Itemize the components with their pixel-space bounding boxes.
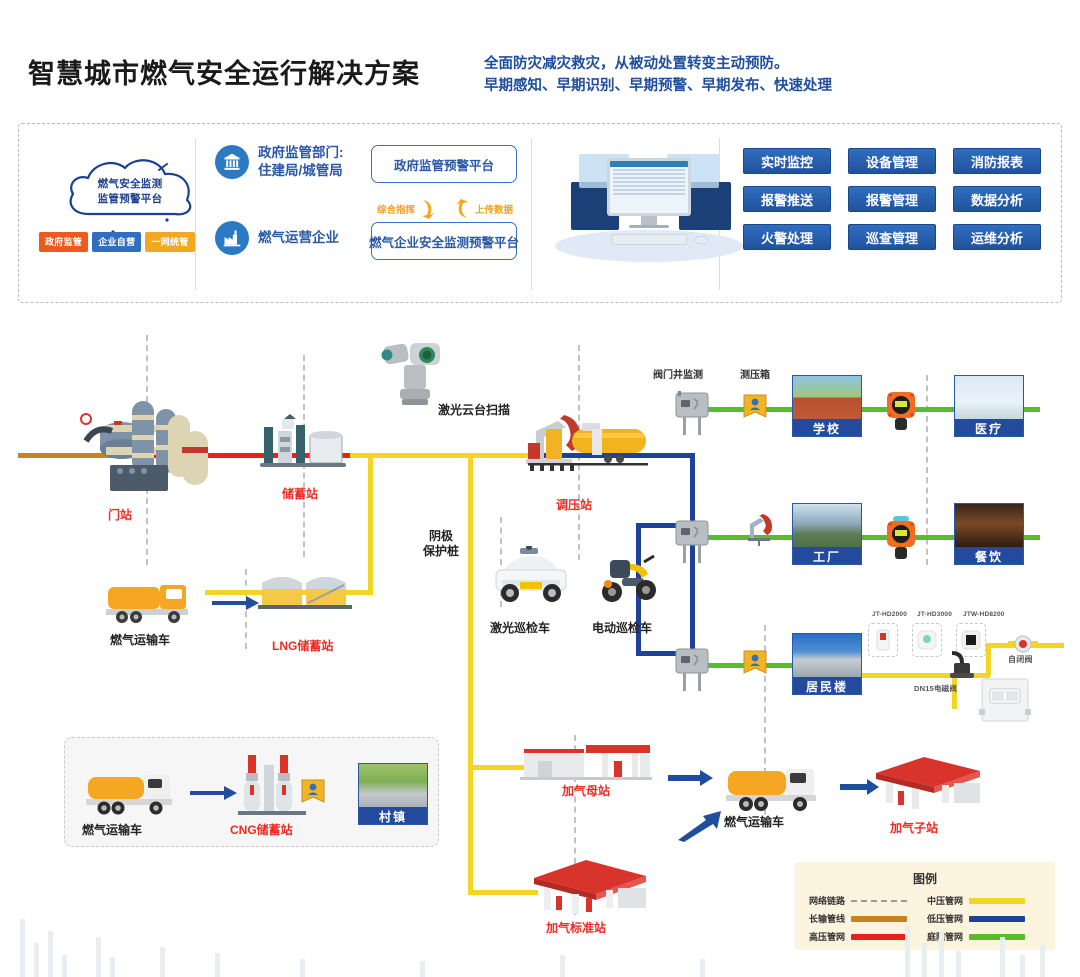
arrow-down-icon [419,198,437,220]
label-gate-station: 门站 [108,508,132,523]
endpoint-caption-school: 学校 [793,419,861,437]
endpoint-card-hospital[interactable]: 医疗 [954,375,1024,437]
subtitle-line-2: 早期感知、早期识别、早期预警、早期发布、快速处理 [484,75,832,97]
fn-fire-report[interactable]: 消防报表 [953,148,1041,174]
cloud-label-line-1: 燃气安全监测 [55,177,205,192]
monitor-base [629,225,669,228]
screen-row [613,181,685,183]
legend-item-network-link: 网络链路 [809,894,923,907]
pipe-medium-yellow-down-lng [368,453,373,595]
label-dn15-solenoid-valve: DN15电磁阀 [914,684,957,693]
endpoint-caption-factory: 工厂 [793,547,861,565]
label-electric-inspection-vehicle: 电动巡检车 [592,621,652,636]
gas-meter-device [978,675,1032,732]
mouse-graphic [695,236,708,244]
cathodic-line-1: 阴极 [423,529,459,544]
org-row-government: 政府监管部门: 住建局/城管局 [215,144,344,180]
industrial-park-photo [793,504,861,547]
electric-inspection-vehicle-graphic [592,546,662,613]
fn-realtime-monitoring[interactable]: 实时监控 [743,148,831,174]
subtitle-line-1: 全面防灾减灾救灾，从被动处置转变主动预防。 [484,53,832,75]
pressure-regulating-station-graphic [508,403,658,471]
school-track-photo [793,376,861,419]
endpoint-card-restaurant[interactable]: 餐饮 [954,503,1024,565]
page-title: 智慧城市燃气安全运行解决方案 [28,52,420,91]
cng-storage-station-graphic [236,751,308,826]
dashboard-illustration [549,144,749,264]
label-pressure-regulating-station: 调压站 [556,498,592,513]
detector-model-3: JTW-HD8200 [963,611,1005,619]
fn-device-management[interactable]: 设备管理 [848,148,936,174]
fn-ops-analysis[interactable]: 运维分析 [953,224,1041,250]
enterprise-platform-box[interactable]: 燃气企业安全监测预警平台 [371,222,517,260]
flow-command-label: 综合指挥 [377,202,415,216]
endpoint-caption-residential: 居民楼 [793,677,861,695]
monitor-screen [610,161,688,213]
legend-title: 图例 [795,870,1055,887]
fn-fire-handling[interactable]: 火警处理 [743,224,831,250]
legend-swatch-network-link [851,900,907,902]
flow-upload-label: 上传数据 [475,202,513,216]
arrow-up-icon [453,198,471,220]
tag-government: 政府监管 [39,232,88,252]
endpoint-caption-village: 村镇 [359,807,427,825]
endpoint-card-village[interactable]: 村镇 [358,763,428,825]
pipeline-diagram: 门站 储蓄站 [0,303,1080,977]
endpoint-card-residential[interactable]: 居民楼 [792,633,862,695]
org-row-enterprise: 燃气运营企业 [215,221,339,255]
org-name-government: 政府监管部门: 住建局/城管局 [258,144,344,180]
cng-transport-truck-graphic [84,769,180,822]
screen-row [613,173,685,175]
village-aerial-photo [359,764,427,807]
gas-truck-mid-graphic [724,763,824,818]
screen-topbar [610,161,688,167]
indoor-detector-1 [868,623,898,657]
keyboard-graphic [611,234,687,245]
flow-upload: 上传数据 [453,198,513,220]
label-storage-station: 储蓄站 [282,487,318,502]
valve-well-monitor-1 [672,389,712,442]
pipe-medium-yellow-main-vertical [468,453,473,890]
restaurant-interior-photo [955,504,1023,547]
arrow-truck-to-lng [212,595,260,616]
monitor-stand [641,216,657,225]
cloud-label-line-2: 监管预警平台 [55,192,205,207]
fn-inspection-mgmt[interactable]: 巡查管理 [848,224,936,250]
label-gas-truck-mid: 燃气运输车 [724,815,784,830]
label-pressure-box: 测压箱 [740,370,770,383]
gas-detector-school [882,387,920,440]
fn-alarm-management[interactable]: 报警管理 [848,186,936,212]
decorative-bars [0,907,1080,977]
pressure-box-device-1 [742,393,768,428]
legend-swatch-medium-pressure [969,898,1025,904]
label-laser-inspection-vehicle: 激光巡检车 [490,621,550,636]
label-gas-transport-truck: 燃气运输车 [110,633,170,648]
legend-item-medium-pressure: 中压管网 [927,894,1041,907]
indoor-detector-2 [912,623,942,657]
cng-pressure-box-device [300,778,326,813]
function-button-grid: 实时监控 设备管理 消防报表 报警推送 报警管理 数据分析 火警处理 巡查管理 … [743,148,1041,250]
cathodic-line-2: 保护桩 [423,544,459,559]
legend-label-medium-pressure: 中压管网 [927,894,963,907]
factory-icon [215,221,249,255]
arrow-truck-to-cng [190,785,238,806]
platform-overview-panel: 燃气安全监测 监管预警平台 政府监管 企业自营 一网统管 政府监管部门: 住建局… [18,123,1062,303]
screen-row [613,177,685,179]
screen-row [613,185,685,187]
lng-storage-station-graphic [258,567,354,618]
tag-unified: 一网统管 [145,232,194,252]
infographic-root: 智慧城市燃气安全运行解决方案 全面防灾减灾救灾，从被动处置转变主动预防。 早期感… [0,0,1080,977]
label-valve-well-monitoring: 阀门井监测 [653,370,703,383]
label-self-closing-valve: 自闭阀 [1008,655,1033,665]
cloud-platform-label: 燃气安全监测 监管预警平台 [55,177,205,207]
cloud-platform-graphic: 燃气安全监测 监管预警平台 [55,146,205,238]
pressure-box-device-2 [742,649,768,684]
gov-name-line-2: 住建局/城管局 [258,162,344,180]
flow-command: 综合指挥 [377,198,437,220]
label-lng-storage-station: LNG储蓄站 [272,639,333,654]
detector-model-2: JT-HD3000 [917,611,952,619]
cloud-tag-row: 政府监管 企业自营 一网统管 [39,232,195,252]
screen-row [613,189,685,191]
gas-detector-factory [882,515,920,568]
residential-towers-photo [793,634,861,677]
tag-enterprise: 企业自营 [92,232,141,252]
label-mother-gas-station: 加气母站 [562,784,610,799]
sub-gas-station-graphic [868,753,988,816]
dn15-solenoid-valve-device [946,651,976,686]
valve-well-monitor-2 [672,517,712,570]
label-laser-ptz-scan: 激光云台扫描 [438,403,510,418]
org-name-enterprise: 燃气运营企业 [258,229,339,247]
label-cng-transport-truck: 燃气运输车 [82,823,142,838]
screen-row [613,193,685,195]
legend-label-network-link: 网络链路 [809,894,845,907]
arrow-mother-to-truck [668,770,714,791]
government-building-icon [215,145,249,179]
label-sub-gas-station: 加气子站 [890,821,938,836]
endpoint-caption-hospital: 医疗 [955,419,1023,437]
endpoint-card-school[interactable]: 学校 [792,375,862,437]
label-cng-storage-station: CNG储蓄站 [230,823,293,838]
gov-name-line-1: 政府监管部门: [258,144,344,162]
hospital-corridor-photo [955,376,1023,419]
gate-station-graphic [62,391,212,501]
monitor-graphic [607,158,691,216]
gas-transport-truck-lng [104,579,200,632]
page-subtitle: 全面防灾减灾救灾，从被动处置转变主动预防。 早期感知、早期识别、早期预警、早期发… [484,53,832,97]
laser-inspection-vehicle-graphic [488,546,574,613]
screen-row [613,169,685,171]
government-platform-box[interactable]: 政府监管预警平台 [371,145,517,183]
detector-model-1: JT-HD2000 [872,611,907,619]
laser-ptz-camera-graphic [370,339,456,413]
label-cathodic-protection-pile: 阴极 保护桩 [423,529,459,559]
small-pumpjack-device [744,508,778,551]
valve-well-monitor-3 [672,645,712,698]
fn-data-analysis[interactable]: 数据分析 [953,186,1041,212]
fn-alarm-push[interactable]: 报警推送 [743,186,831,212]
endpoint-caption-restaurant: 餐饮 [955,547,1023,565]
arrow-standard-to-truck [676,808,722,847]
storage-station-graphic [258,413,348,473]
panel-divider-2 [531,138,532,290]
endpoint-card-factory[interactable]: 工厂 [792,503,862,565]
